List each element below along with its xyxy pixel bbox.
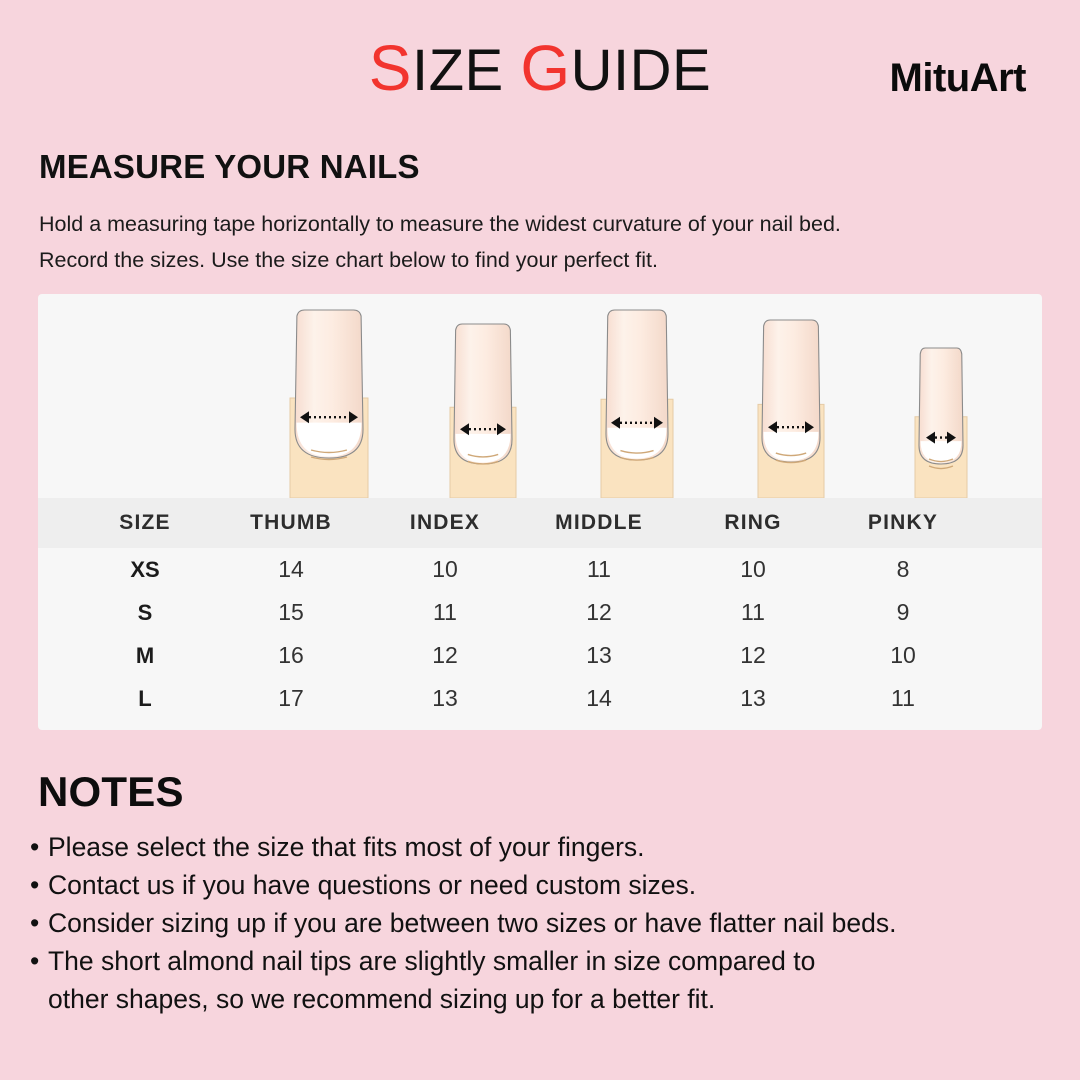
size-label-m: M — [136, 634, 154, 677]
size-chart-panel: SIZETHUMBINDEXMIDDLERINGPINKY XS14101110… — [38, 294, 1042, 730]
cell-xs-middle: 11 — [587, 548, 611, 591]
cell-l-thumb: 17 — [278, 677, 304, 720]
note-item: •The short almond nail tips are slightly… — [30, 942, 1070, 980]
note-item: •Consider sizing up if you are between t… — [30, 904, 1070, 942]
column-header-middle: MIDDLE — [555, 498, 643, 548]
note-text: The short almond nail tips are slightly … — [48, 946, 815, 976]
note-text: Contact us if you have questions or need… — [48, 870, 696, 900]
column-header-thumb: THUMB — [250, 498, 332, 548]
table-row[interactable]: L1713141311 — [38, 677, 1042, 720]
cell-s-middle: 12 — [586, 591, 612, 634]
size-label-xs: XS — [130, 548, 159, 591]
cell-m-index: 12 — [432, 634, 458, 677]
measure-line-2: Record the sizes. Use the size chart bel… — [39, 242, 1039, 278]
title-letter-g: G — [520, 32, 570, 104]
cell-l-pinky: 11 — [891, 677, 915, 720]
title-text-ize: IZE — [412, 38, 520, 103]
cell-xs-ring: 10 — [740, 548, 766, 591]
cell-xs-pinky: 8 — [897, 548, 910, 591]
cell-m-ring: 12 — [740, 634, 766, 677]
nail-diagram-index — [445, 322, 521, 498]
cell-m-pinky: 10 — [890, 634, 916, 677]
cell-s-ring: 11 — [741, 591, 765, 634]
notes-list: •Please select the size that fits most o… — [30, 828, 1070, 1018]
note-text: other shapes, so we recommend sizing up … — [48, 984, 715, 1014]
note-item: •Please select the size that fits most o… — [30, 828, 1070, 866]
nail-diagram-strip — [38, 294, 1042, 498]
note-item: other shapes, so we recommend sizing up … — [30, 980, 1070, 1018]
size-chart-header-row: SIZETHUMBINDEXMIDDLERINGPINKY — [38, 498, 1042, 548]
column-header-ring: RING — [724, 498, 781, 548]
cell-xs-thumb: 14 — [278, 548, 304, 591]
cell-l-ring: 13 — [740, 677, 766, 720]
bullet-icon: • — [30, 942, 48, 980]
cell-s-pinky: 9 — [897, 591, 910, 634]
table-row[interactable]: S151112119 — [38, 591, 1042, 634]
cell-s-index: 11 — [433, 591, 457, 634]
cell-m-middle: 13 — [586, 634, 612, 677]
size-label-s: S — [138, 591, 153, 634]
column-header-pinky: PINKY — [868, 498, 938, 548]
title-letter-s: S — [369, 32, 412, 104]
title-text-uide: UIDE — [571, 38, 712, 103]
table-row[interactable]: M1612131210 — [38, 634, 1042, 677]
note-text: Consider sizing up if you are between tw… — [48, 908, 896, 938]
size-label-l: L — [138, 677, 151, 720]
cell-l-index: 13 — [432, 677, 458, 720]
size-chart-body: XS141011108S151112119M1612131210L1713141… — [38, 548, 1042, 730]
notes-heading: NOTES — [38, 768, 184, 816]
cell-s-thumb: 15 — [278, 591, 304, 634]
measure-instructions: Hold a measuring tape horizontally to me… — [39, 206, 1039, 278]
nail-diagram-pinky — [910, 346, 972, 498]
measure-heading: MEASURE YOUR NAILS — [39, 148, 420, 186]
column-header-size: SIZE — [119, 498, 170, 548]
cell-xs-index: 10 — [432, 548, 458, 591]
cell-l-middle: 14 — [586, 677, 612, 720]
cell-m-thumb: 16 — [278, 634, 304, 677]
note-text: Please select the size that fits most of… — [48, 832, 645, 862]
page-header: SIZE GUIDE MituArt — [0, 0, 1080, 130]
bullet-icon: • — [30, 866, 48, 904]
nail-diagram-ring — [753, 318, 829, 498]
note-item: •Contact us if you have questions or nee… — [30, 866, 1070, 904]
nail-diagram-thumb — [285, 308, 373, 498]
nail-diagram-middle — [596, 308, 678, 498]
brand-logo: MituArt — [890, 56, 1026, 101]
table-row[interactable]: XS141011108 — [38, 548, 1042, 591]
column-header-index: INDEX — [410, 498, 480, 548]
bullet-icon: • — [30, 828, 48, 866]
measure-line-1: Hold a measuring tape horizontally to me… — [39, 206, 1039, 242]
bullet-icon: • — [30, 904, 48, 942]
